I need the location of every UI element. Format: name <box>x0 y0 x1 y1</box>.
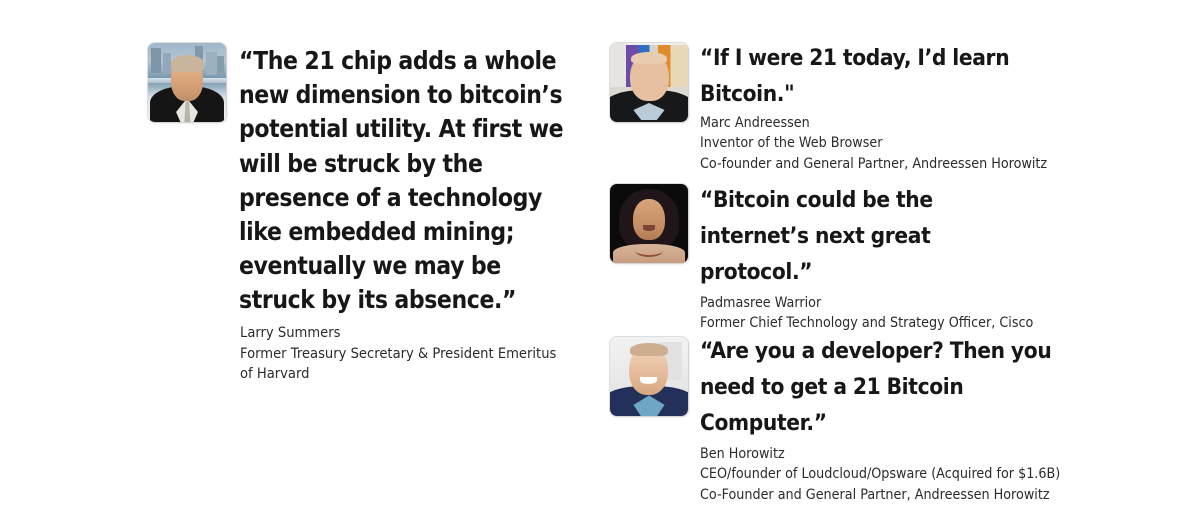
portrait-ben-horowitz <box>610 337 688 416</box>
quote-text: “Bitcoin could be the internet’s next gr… <box>700 182 1024 290</box>
attribution-name: Padmasree Warrior <box>700 293 1069 313</box>
testimonial-larry-summers: “The 21 chip adds a whole new dimension … <box>148 43 568 318</box>
quote-text: “If I were 21 today, I’d learn Bitcoin." <box>700 40 1087 112</box>
testimonial-padmasree-warrior: “Bitcoin could be the internet’s next gr… <box>610 184 1110 334</box>
attribution-name: Ben Horowitz <box>700 444 1087 464</box>
attribution-title-1: Former Treasury Secretary & President Em… <box>240 344 564 385</box>
attribution: Ben Horowitz CEO/founder of Loudcloud/Op… <box>700 444 1087 505</box>
testimonial-body: “Bitcoin could be the internet’s next gr… <box>700 184 1110 334</box>
testimonials-board: “The 21 chip adds a whole new dimension … <box>0 0 1200 500</box>
quote-text: “The 21 chip adds a whole new dimension … <box>239 44 572 318</box>
attribution: Marc Andreessen Inventor of the Web Brow… <box>700 113 1087 174</box>
testimonial-marc-andreessen: “If I were 21 today, I’d learn Bitcoin."… <box>610 43 1130 174</box>
attribution-title-2: Co-founder and General Partner, Andreess… <box>700 154 1087 174</box>
attribution-name: Larry Summers <box>240 323 564 344</box>
attribution: Larry Summers Former Treasury Secretary … <box>240 323 564 385</box>
quote-text: “Are you a developer? Then you need to g… <box>700 333 1060 441</box>
attribution-title-1: CEO/founder of Loudcloud/Opsware (Acquir… <box>700 464 1087 484</box>
portrait-marc-andreessen <box>610 43 688 122</box>
attribution: Padmasree Warrior Former Chief Technolog… <box>700 293 1069 334</box>
attribution-title-2: Co-Founder and General Partner, Andreess… <box>700 485 1087 505</box>
testimonial-body: “If I were 21 today, I’d learn Bitcoin."… <box>700 43 1130 174</box>
attribution-title-1: Former Chief Technology and Strategy Off… <box>700 313 1069 333</box>
portrait-padmasree-warrior <box>610 184 688 263</box>
testimonial-body: “The 21 chip adds a whole new dimension … <box>239 43 609 318</box>
attribution-name: Marc Andreessen <box>700 113 1087 133</box>
portrait-larry-summers <box>148 43 226 122</box>
testimonial-ben-horowitz: “Are you a developer? Then you need to g… <box>610 337 1130 505</box>
testimonial-body: “Are you a developer? Then you need to g… <box>700 337 1130 505</box>
attribution-title-1: Inventor of the Web Browser <box>700 133 1087 153</box>
